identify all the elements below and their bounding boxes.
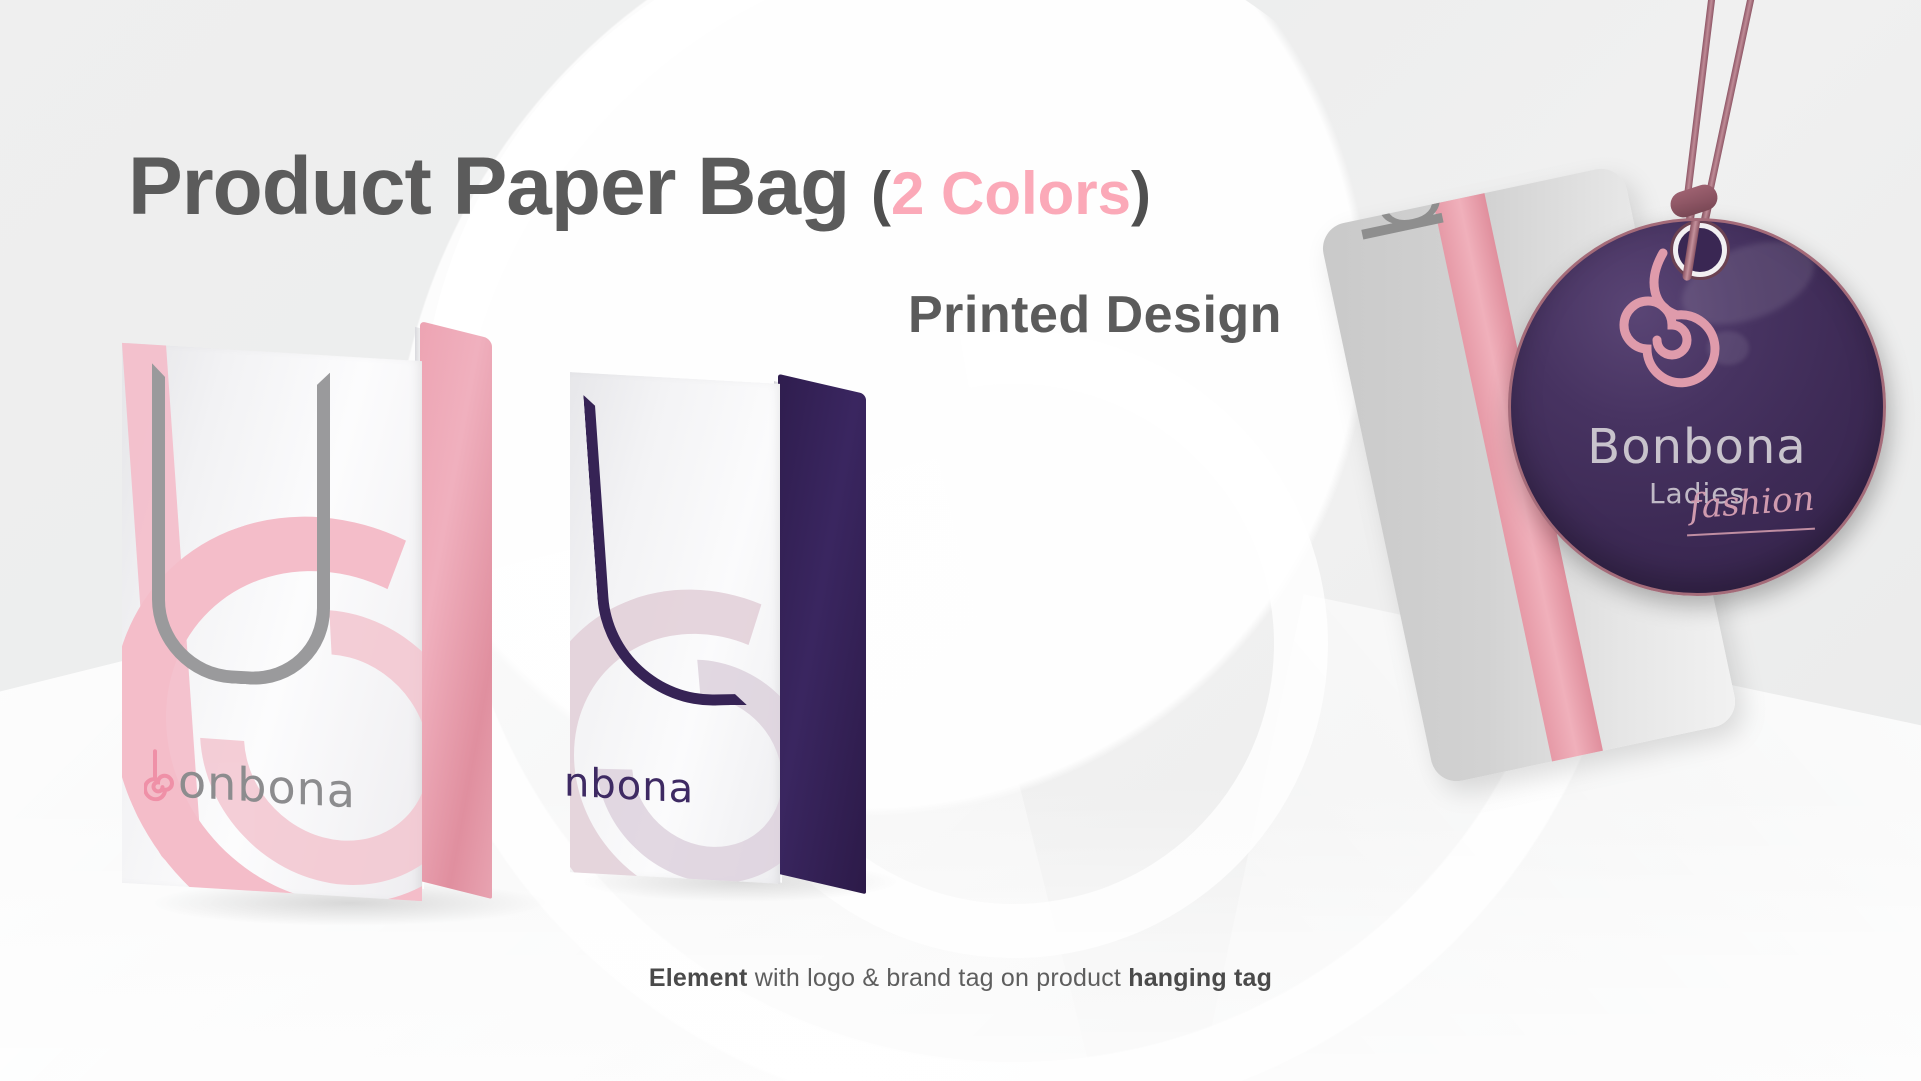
tag-eyelet <box>1673 223 1727 277</box>
bag-pink-rope-handle <box>152 363 330 688</box>
bag-navy-logo-text: nbona <box>564 759 694 812</box>
caption-middle: with logo & brand tag on product <box>748 964 1129 992</box>
paper-bag-pink: onbona <box>122 330 562 910</box>
tag-disc: Bonbona Ladies fashion <box>1508 218 1886 596</box>
bag-pink-logo-text: onbona <box>178 754 356 819</box>
page-title: Product Paper Bag (2 Colors) <box>128 140 1151 234</box>
footer-caption: Element with logo & brand tag on product… <box>0 964 1921 993</box>
page-subtitle: Printed Design <box>908 285 1282 345</box>
disc-script-underline <box>1687 528 1815 537</box>
disc-script-word: fashion <box>1688 479 1816 528</box>
paper-bag-navy: nbona <box>570 368 870 888</box>
caption-bold-end: hanging tag <box>1128 964 1272 992</box>
bag-navy-logo: nbona <box>564 759 694 812</box>
disc-brand-name: Bonbona <box>1511 419 1883 475</box>
paren-open: ( <box>871 160 891 227</box>
caption-bold-start: Element <box>649 964 748 992</box>
bag-navy-gusset <box>778 374 866 894</box>
spiral-logo-icon <box>144 749 178 814</box>
hanging-tag: bona Bonbona Ladies fashion <box>1380 0 1920 950</box>
bag-pink-gusset <box>420 321 492 899</box>
colors-label: 2 Colors <box>891 160 1131 227</box>
paren-close: ) <box>1131 160 1151 227</box>
bag-pink-logo: onbona <box>144 749 356 825</box>
page-title-main: Product Paper Bag <box>128 141 849 232</box>
poster-canvas: Product Paper Bag (2 Colors) Printed Des… <box>0 0 1921 1081</box>
